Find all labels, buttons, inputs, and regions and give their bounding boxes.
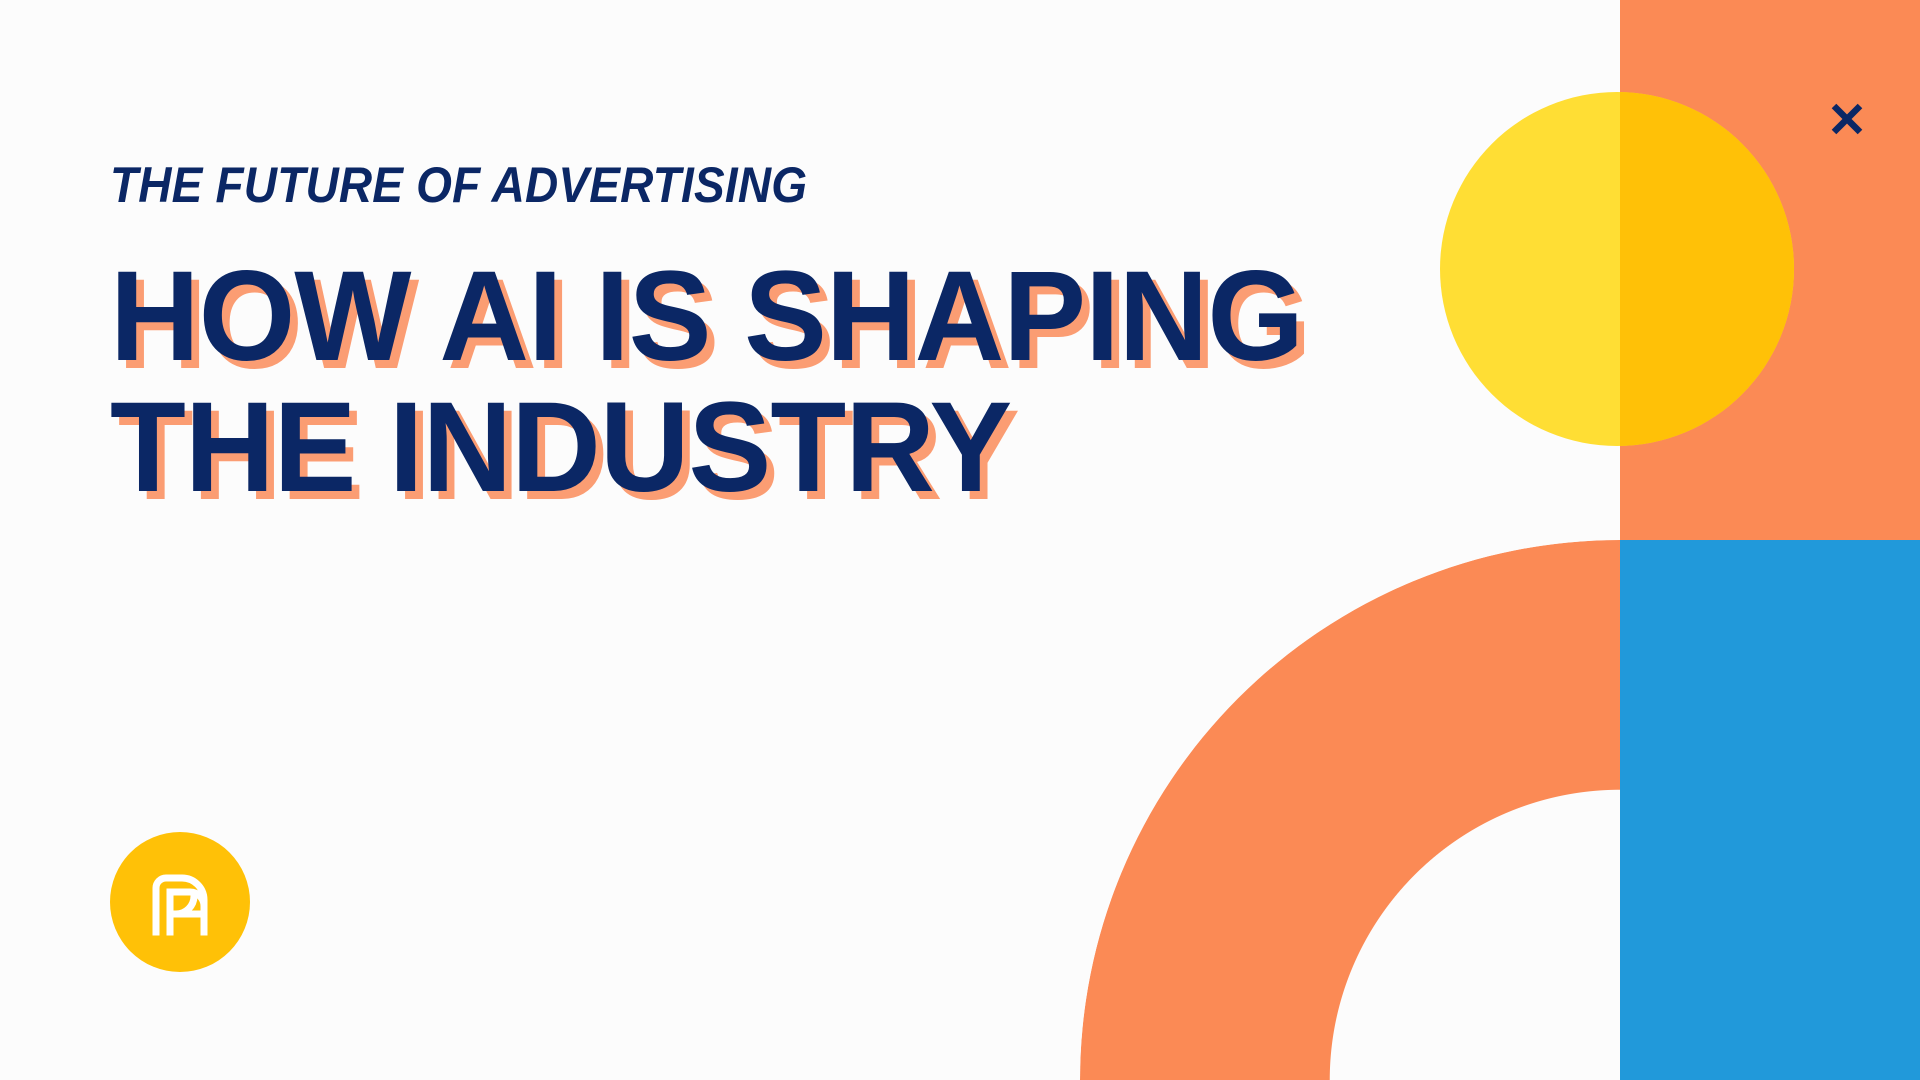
blue-block [1620,540,1920,1080]
close-icon [1827,99,1867,139]
navy-disc-clip [1620,540,1920,1080]
promo-slide: THE FUTURE OF ADVERTISING HOW AI IS SHAP… [0,0,1920,1080]
headline-block: THE FUTURE OF ADVERTISING HOW AI IS SHAP… [110,160,1340,513]
page-title: HOW AI IS SHAPING THE INDUSTRY [110,252,1303,513]
headline-line-2: THE INDUSTRY [110,383,1303,514]
yellow-circle [1440,92,1794,446]
brand-monogram-icon [134,856,226,948]
gold-circle-clip [1620,0,1920,540]
headline-line-1: HOW AI IS SHAPING [110,252,1303,383]
salmon-block [1620,0,1920,540]
close-button[interactable] [1820,92,1874,146]
orange-arc-ring [1080,540,1620,1080]
eyebrow-text: THE FUTURE OF ADVERTISING [110,160,1241,210]
brand-logo[interactable] [110,832,250,972]
gold-circle-overlap [1620,92,1794,446]
